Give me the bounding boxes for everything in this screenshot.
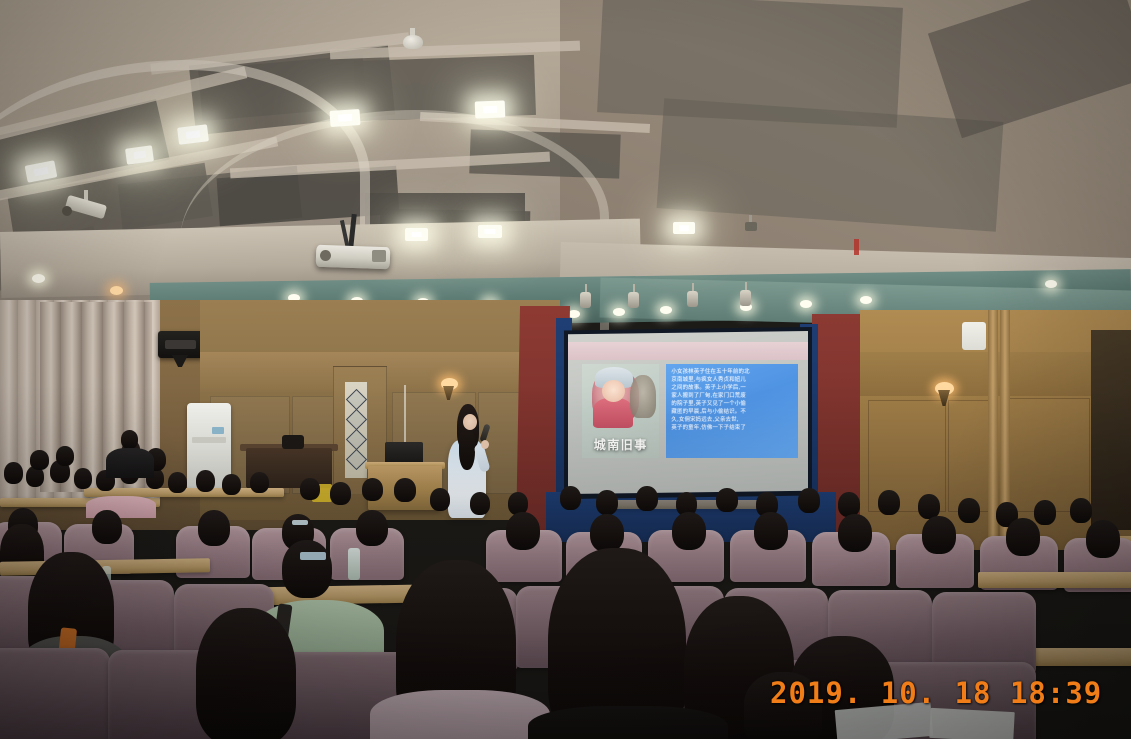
wall-speaker <box>158 331 203 358</box>
surveillance-camera-right <box>745 222 757 231</box>
water-bottle[interactable] <box>348 548 360 580</box>
student-head <box>1006 518 1040 556</box>
red-ribbon-marker <box>854 239 859 255</box>
slide-line: 藏匿的早晨,后与小偷结识。不 <box>671 408 793 416</box>
slide-line: 京南城里,与疯女人秀贞和妞儿 <box>671 376 793 384</box>
ceiling-downlight <box>405 228 428 241</box>
slide-line: 小女孩林英子住在五十年前的北 <box>671 368 793 376</box>
student-head <box>1070 498 1092 523</box>
slide-line: 久,女佣宋妈远去,父亲去世, <box>671 416 793 424</box>
student-head <box>1086 520 1120 558</box>
student-head <box>300 478 320 500</box>
slide-line: 家人搬到了厂甸,在家门口荒废 <box>671 392 793 400</box>
student-hair-foreground <box>196 608 296 739</box>
track-spotlight[interactable] <box>740 290 751 306</box>
poster-second-figure <box>630 375 656 418</box>
student-head <box>196 470 215 492</box>
auditorium-seat[interactable] <box>0 648 110 739</box>
ceiling-downlight <box>177 124 209 145</box>
row-desk <box>978 572 1131 588</box>
student-head <box>470 492 490 515</box>
slide-line: 之间的故事。英子上小学后,一 <box>671 384 793 392</box>
camera-timestamp: 2019. 10. 18 18:39 <box>770 676 1102 710</box>
poster-title: 城南旧事 <box>585 436 656 453</box>
slide-line: 的院子里,英子又见了一个小偷 <box>671 400 793 408</box>
track-spotlight[interactable] <box>580 292 591 308</box>
wood-panel <box>948 400 990 512</box>
presenter-hair-back <box>459 430 475 470</box>
student-head <box>636 486 658 511</box>
ceiling-downlight <box>329 109 360 127</box>
student-head <box>922 516 956 554</box>
student-head <box>958 498 980 523</box>
ceiling-downlight <box>673 222 695 234</box>
dome-camera <box>403 35 423 49</box>
student-head <box>596 490 618 515</box>
ceiling-downlight <box>32 274 45 283</box>
student-head <box>356 510 388 546</box>
student-head <box>222 474 241 495</box>
track-spotlight[interactable] <box>687 291 698 307</box>
student-head <box>92 510 122 544</box>
ceiling-downlight <box>613 308 625 316</box>
ceiling-downlight <box>1045 280 1057 288</box>
student-head <box>838 514 872 552</box>
slide-header-band <box>568 342 808 360</box>
student-torso <box>370 690 550 739</box>
ceiling-downlight-warm <box>110 286 123 295</box>
student-head <box>506 512 540 550</box>
hair-clip <box>292 520 308 525</box>
microphone-stand <box>404 385 406 445</box>
student-head <box>716 488 738 512</box>
student-head <box>282 540 332 598</box>
student-head <box>168 472 187 493</box>
student-head <box>198 510 230 546</box>
ceiling-coffer <box>657 98 1004 231</box>
student-head <box>754 512 788 550</box>
ceiling-downlight <box>475 100 506 118</box>
student-head <box>30 450 49 470</box>
student-head <box>560 486 581 510</box>
right-doorway[interactable] <box>1091 330 1131 530</box>
slide-line: 英子的童年,仿佛一下子结束了 <box>671 424 793 432</box>
student-head <box>4 462 23 484</box>
auditorium-photo: 城南旧事 小女孩林英子住在五十年前的北 京南城里,与疯女人秀贞和妞儿 之间的故事… <box>0 0 1131 739</box>
presenter-face <box>463 414 477 430</box>
poster-figure-body <box>593 398 633 428</box>
student-head <box>362 478 383 501</box>
hair-clip <box>300 552 326 560</box>
student-head <box>672 512 706 550</box>
projector-lens-icon <box>320 250 331 261</box>
track-spotlight[interactable] <box>628 292 639 308</box>
student-head <box>330 482 351 505</box>
ceiling-downlight <box>800 300 812 308</box>
ceiling-downlight <box>860 296 872 304</box>
seated-adult-head <box>121 430 138 449</box>
student-head <box>1034 500 1056 525</box>
student-head <box>590 514 624 552</box>
student-torso <box>528 706 728 739</box>
front-table-equipment <box>282 435 304 449</box>
student-head <box>798 488 820 513</box>
student-head <box>394 478 416 502</box>
film-poster-image: 城南旧事 <box>582 364 659 459</box>
worksheet-paper <box>929 708 1014 739</box>
student-head <box>74 468 92 489</box>
projector-vent-icon <box>372 250 386 262</box>
student-head <box>430 488 450 511</box>
seated-adult-torso <box>106 448 154 478</box>
student-head <box>878 490 900 515</box>
ceiling-downlight <box>660 306 672 314</box>
student-head <box>56 446 74 466</box>
slide-text-box: 小女孩林英子住在五十年前的北 京南城里,与疯女人秀贞和妞儿 之间的故事。英子上小… <box>666 364 798 459</box>
student-head <box>250 472 269 493</box>
presenter-hand <box>481 440 489 449</box>
wall-vent-panel <box>962 322 986 350</box>
ceiling-downlight <box>478 225 502 238</box>
wood-panel <box>1000 398 1090 512</box>
projection-screen[interactable]: 城南旧事 小女孩林英子住在五十年前的北 京南城里,与疯女人秀贞和妞儿 之间的故事… <box>568 331 808 494</box>
